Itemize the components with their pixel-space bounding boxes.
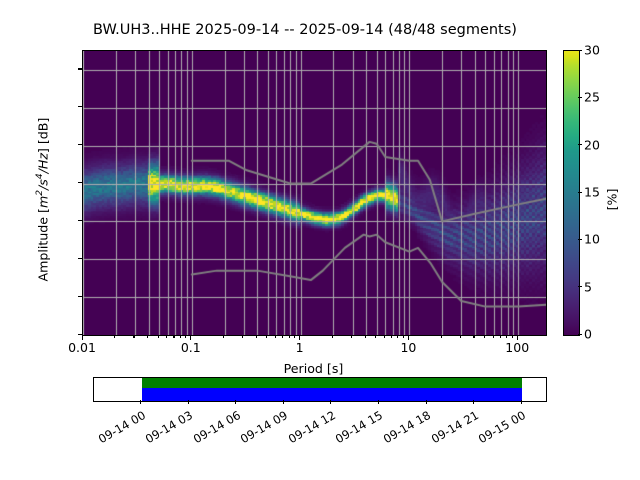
- x-tick-label: 100: [505, 340, 529, 355]
- x-minor-tick-mark: [133, 335, 134, 338]
- timeline-tick-mark: [283, 400, 284, 404]
- x-tick-mark: [190, 335, 191, 340]
- timeline-tick-mark: [330, 400, 331, 404]
- x-minor-tick-mark: [365, 335, 366, 338]
- colorbar-tick-label: 30: [584, 43, 600, 58]
- y-tick-mark: [78, 296, 82, 297]
- x-minor-tick-mark: [493, 335, 494, 338]
- colorbar-tick-mark: [578, 239, 582, 240]
- x-minor-tick-mark: [384, 335, 385, 338]
- y-tick-mark: [78, 106, 82, 107]
- colorbar-tick-label: 20: [584, 137, 600, 152]
- x-minor-tick-mark: [506, 335, 507, 338]
- y-axis-label-prefix: Amplitude [: [36, 208, 51, 281]
- x-tick-label: 1: [296, 340, 304, 355]
- colorbar-tick-mark: [578, 144, 582, 145]
- colorbar-tick-label: 15: [584, 185, 600, 200]
- y-axis-unit-m-exp: 2: [35, 190, 45, 196]
- colorbar-tick-mark: [578, 334, 582, 335]
- timeline-tick-label: 09-14 06: [189, 408, 243, 447]
- colorbar-tick-label: 0: [584, 327, 592, 342]
- timeline-tick-label: 09-14 09: [237, 408, 291, 447]
- x-minor-tick-mark: [256, 335, 257, 338]
- x-minor-tick-mark: [114, 335, 115, 338]
- ppsd-axes[interactable]: [82, 50, 547, 336]
- timeline-tick-label: 09-14 03: [141, 408, 195, 447]
- x-minor-tick-mark: [403, 335, 404, 338]
- timeline-tick-label: 09-14 15: [332, 408, 386, 447]
- x-minor-tick-mark: [391, 335, 392, 338]
- colorbar-tick-mark: [578, 97, 582, 98]
- x-minor-tick-mark: [180, 335, 181, 338]
- x-minor-tick-mark: [397, 335, 398, 338]
- x-tick-mark: [517, 335, 518, 340]
- x-minor-tick-mark: [332, 335, 333, 338]
- y-axis-label: Amplitude [m2/s4/Hz] [dB]: [35, 70, 50, 330]
- y-tick-mark: [78, 220, 82, 221]
- ppsd-figure: BW.UH3..HHE 2025-09-14 -- 2025-09-14 (48…: [0, 0, 640, 480]
- x-minor-tick-mark: [147, 335, 148, 338]
- timeline-tick-label: 09-14 21: [427, 408, 481, 447]
- x-minor-tick-mark: [266, 335, 267, 338]
- x-minor-tick-mark: [223, 335, 224, 338]
- y-axis-unit-s-exp: 4: [35, 173, 45, 179]
- y-tick-mark: [78, 182, 82, 183]
- plot-title: BW.UH3..HHE 2025-09-14 -- 2025-09-14 (48…: [0, 22, 610, 38]
- x-minor-tick-mark: [294, 335, 295, 338]
- y-tick-mark: [78, 68, 82, 69]
- x-tick-mark: [82, 335, 83, 340]
- x-tick-mark: [408, 335, 409, 340]
- x-minor-tick-mark: [282, 335, 283, 338]
- x-minor-tick-mark: [289, 335, 290, 338]
- x-minor-tick-mark: [351, 335, 352, 338]
- x-minor-tick-mark: [242, 335, 243, 338]
- timeline-tick-label: 09-14 18: [379, 408, 433, 447]
- x-minor-tick-mark: [185, 335, 186, 338]
- colorbar-tick-mark: [578, 192, 582, 193]
- y-axis-unit-s: /s: [36, 179, 51, 190]
- x-tick-label: 0.1: [181, 340, 201, 355]
- y-tick-mark: [78, 144, 82, 145]
- y-axis-label-suffix: ] [dB]: [36, 118, 51, 153]
- y-axis-unit-hz: /Hz: [36, 153, 51, 173]
- data-coverage-axes[interactable]: [93, 377, 547, 402]
- timeline-tick-mark: [235, 400, 236, 404]
- timeline-tick-mark: [140, 400, 141, 404]
- x-minor-tick-mark: [473, 335, 474, 338]
- x-minor-tick-mark: [512, 335, 513, 338]
- timeline-tick-mark: [473, 400, 474, 404]
- colorbar-tick-mark: [578, 50, 582, 51]
- timeline-tick-mark: [521, 400, 522, 404]
- x-minor-tick-mark: [460, 335, 461, 338]
- x-minor-tick-mark: [375, 335, 376, 338]
- timeline-tick-label: 09-14 00: [94, 408, 148, 447]
- timeline-tick-label: 09-15 00: [474, 408, 528, 447]
- x-minor-tick-mark: [500, 335, 501, 338]
- x-tick-label: 10: [400, 340, 416, 355]
- timeline-tick-mark: [426, 400, 427, 404]
- x-minor-tick-mark: [158, 335, 159, 338]
- colorbar-tick-mark: [578, 286, 582, 287]
- colorbar[interactable]: [563, 50, 580, 336]
- x-minor-tick-mark: [484, 335, 485, 338]
- y-axis-unit-m: m: [36, 196, 51, 208]
- x-axis-label: Period [s]: [82, 361, 545, 376]
- peterson-noise-models: [83, 51, 546, 335]
- colorbar-tick-label: 10: [584, 232, 600, 247]
- colorbar-tick-label: 5: [584, 279, 592, 294]
- data-coverage-green: [142, 378, 523, 388]
- y-tick-mark: [78, 258, 82, 259]
- timeline-tick-mark: [188, 400, 189, 404]
- colorbar-label: [%]: [605, 170, 620, 230]
- data-coverage-blue: [142, 388, 523, 401]
- x-minor-tick-mark: [275, 335, 276, 338]
- x-tick-mark: [299, 335, 300, 340]
- x-tick-label: 0.01: [68, 340, 96, 355]
- x-minor-tick-mark: [173, 335, 174, 338]
- colorbar-tick-label: 25: [584, 90, 600, 105]
- x-minor-tick-mark: [166, 335, 167, 338]
- timeline-tick-mark: [378, 400, 379, 404]
- timeline-tick-label: 09-14 12: [284, 408, 338, 447]
- x-minor-tick-mark: [441, 335, 442, 338]
